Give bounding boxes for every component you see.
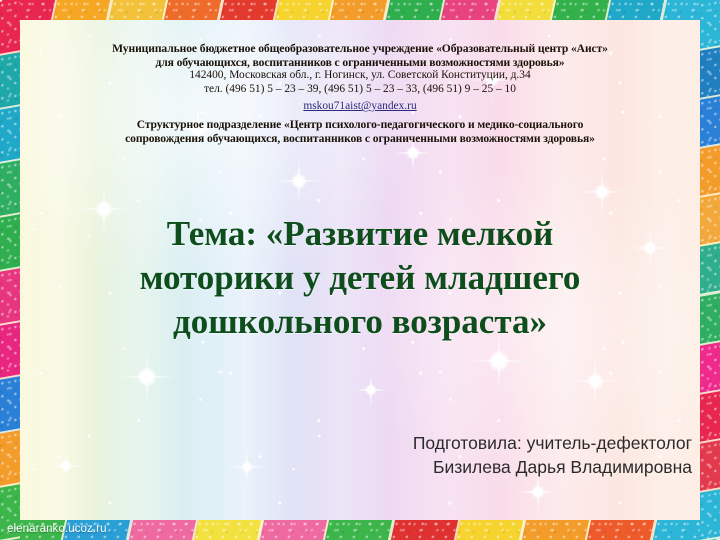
org-phones: тел. (496 51) 5 – 23 – 39, (496 51) 5 – … <box>26 83 694 96</box>
org-address: 142400, Московская обл., г. Ногинск, ул.… <box>26 69 694 82</box>
slide-title-line-2: моторики у детей младшего <box>60 256 660 300</box>
org-name-line-2: для обучающихся, воспитанников с огранич… <box>26 56 694 70</box>
watermark-label: elenaranko.ucoz.ru <box>7 523 107 535</box>
org-name-line-1: Муниципальное бюджетное общеобразователь… <box>26 42 694 56</box>
organization-header: Муниципальное бюджетное общеобразователь… <box>26 42 694 145</box>
author-name: Бизилева Дарья Владимировна <box>300 456 692 480</box>
org-subdivision-line-2: сопровождения обучающихся, воспитанников… <box>26 132 694 146</box>
slide-title: Тема: «Развитие мелкой моторики у детей … <box>60 212 660 344</box>
org-email-row: mskou71aist@yandex.ru <box>26 96 694 115</box>
author-role: Подготовила: учитель-дефектолог <box>300 432 692 456</box>
slide-title-line-1: Тема: «Развитие мелкой <box>60 212 660 256</box>
org-email-link[interactable]: mskou71aist@yandex.ru <box>303 100 416 113</box>
org-subdivision-line-1: Структурное подразделение «Центр психоло… <box>26 118 694 132</box>
presentation-slide: Муниципальное бюджетное общеобразователь… <box>0 0 720 540</box>
slide-title-line-3: дошкольного возраста» <box>60 300 660 344</box>
author-attribution: Подготовила: учитель-дефектолог Бизилева… <box>300 432 698 479</box>
slide-content: Муниципальное бюджетное общеобразователь… <box>0 0 720 540</box>
